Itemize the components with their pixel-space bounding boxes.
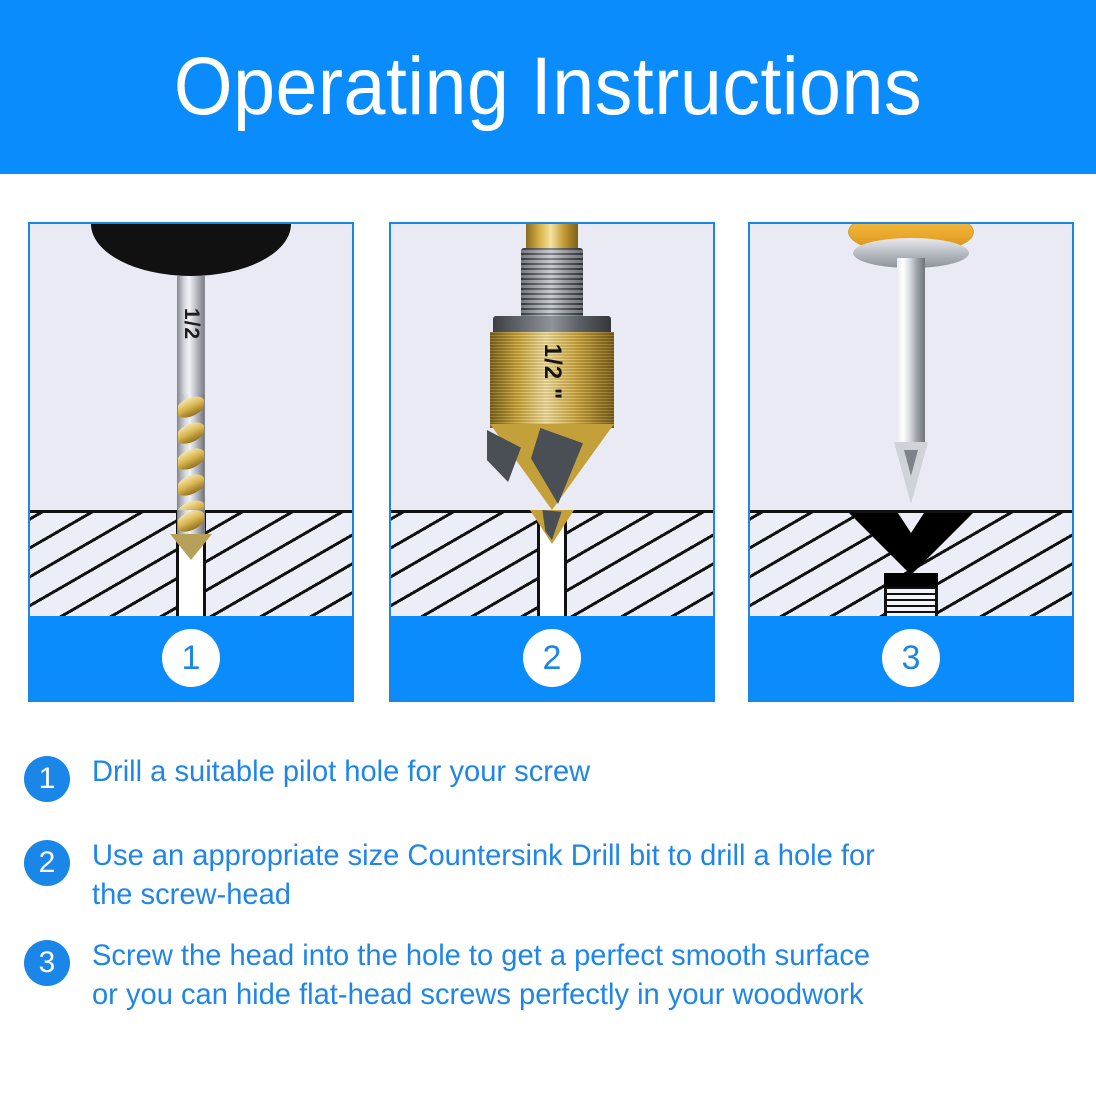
illustration-panels: 1/2 1: [0, 222, 1096, 706]
drill-flute: [177, 394, 205, 510]
step-item-2: 2 Use an appropriate size Countersink Dr…: [0, 836, 1096, 914]
step-1-badge: 1: [24, 756, 70, 802]
drill-tip: [170, 534, 212, 560]
panel-2-footer: 2: [391, 616, 713, 700]
panel-1-scene: 1/2: [30, 224, 352, 510]
screw-head-notch: [898, 513, 924, 533]
drill-bit-size-label: 1/2: [179, 308, 203, 340]
step-1-text: Drill a suitable pilot hole for your scr…: [92, 752, 590, 791]
drill-chuck-icon: [91, 224, 291, 276]
panel-2-number: 2: [523, 629, 581, 687]
panel-1-footer: 1: [30, 616, 352, 700]
countersink-knurled-collar: [521, 248, 583, 320]
steps-list: 1 Drill a suitable pilot hole for your s…: [0, 752, 1096, 1028]
instruction-sheet: Operating Instructions 1/2: [0, 0, 1096, 1096]
panel-step-1: 1/2 1: [28, 222, 354, 702]
panel-2-scene: 1/2 ": [391, 224, 713, 510]
step-3-text: Screw the head into the hole to get a pe…: [92, 936, 870, 1014]
screwdriver-shaft: [897, 258, 925, 444]
step-item-1: 1 Drill a suitable pilot hole for your s…: [0, 752, 1096, 802]
step-2-badge: 2: [24, 840, 70, 886]
panel-1-number: 1: [162, 629, 220, 687]
countersink-size-label: 1/2 ": [538, 344, 566, 400]
page-title: Operating Instructions: [44, 0, 1052, 174]
step-item-3: 3 Screw the head into the hole to get a …: [0, 936, 1096, 1014]
panel-step-2: 1/2 " 2: [389, 222, 715, 702]
drill-flute-lower: [177, 510, 205, 536]
panel-3-number: 3: [882, 629, 940, 687]
screwdriver-tip-notch: [904, 450, 918, 476]
panel-step-3: 3: [748, 222, 1074, 702]
panel-3-scene: [750, 224, 1072, 510]
step-3-badge: 3: [24, 940, 70, 986]
header-banner: Operating Instructions: [0, 0, 1096, 174]
panel-3-footer: 3: [750, 616, 1072, 700]
step-2-text: Use an appropriate size Countersink Dril…: [92, 836, 875, 914]
